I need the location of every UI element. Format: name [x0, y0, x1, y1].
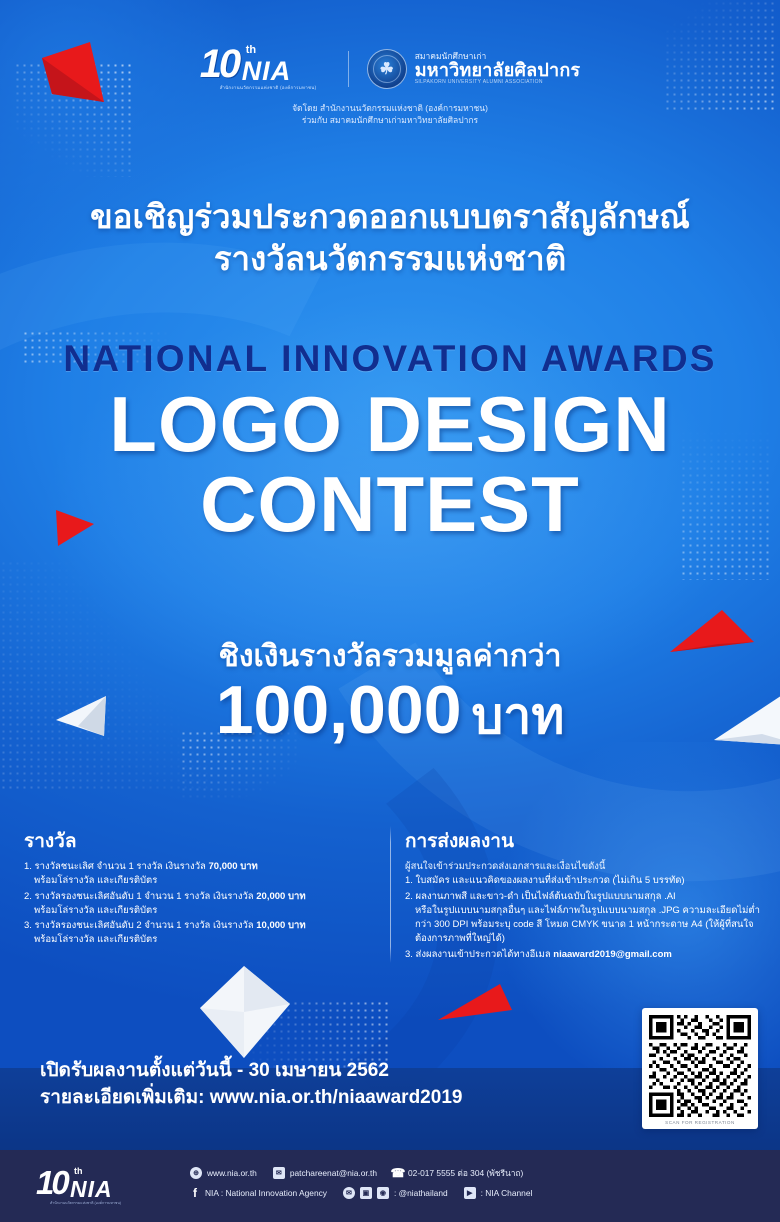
list-item: 2. ผลงานภาพสี และขาว-ดำ เป็นไฟล์ต้นฉบับใ… — [405, 890, 760, 947]
english-titles: NATIONAL INNOVATION AWARDS LOGO DESIGN C… — [0, 340, 780, 544]
facebook-icon: f — [190, 1187, 200, 1199]
qr-caption: SCAN FOR REGISTRATION — [649, 1117, 751, 1126]
list-item: 1. ใบสมัคร และแนวคิดของผลงานที่ส่งเข้าปร… — [405, 874, 760, 888]
column-divider — [390, 826, 391, 963]
youtube-icon: ▶ — [464, 1187, 476, 1199]
contact-youtube[interactable]: ▶ : NIA Channel — [464, 1187, 533, 1199]
submission-item-2-sub: หรือในรูปแบบนามสกุลอื่นๆ และไฟล์ภาพในรูป… — [405, 904, 760, 947]
contact-social-text: : @niathailand — [394, 1188, 448, 1198]
deadline-text: เปิดรับผลงานตั้งแต่วันนี้ - 30 เมษายน 25… — [40, 1058, 462, 1112]
nia-logo: 10 th NIA สำนักงานนวัตกรรมแห่งชาติ (องค์… — [200, 46, 330, 92]
deadline-line1: เปิดรับผลงานตั้งแต่วันนี้ - 30 เมษายน 25… — [40, 1058, 462, 1085]
organizer-lines: จัดโดย สำนักงานนวัตกรรมแห่งชาติ (องค์การ… — [0, 102, 780, 127]
thai-headline: ขอเชิญร่วมประกวดออกแบบตราสัญลักษณ์ รางวั… — [0, 196, 780, 280]
footer-logo-subtitle: สำนักงานนวัตกรรมแห่งชาติ (องค์การมหาชน) — [50, 1200, 121, 1206]
contact-phone-text: 02-017 5555 ต่อ 304 (พัชรีนาถ) — [408, 1166, 523, 1180]
footer-logo-word: NIA — [70, 1178, 113, 1201]
globe-icon: ⊕ — [190, 1167, 202, 1179]
contact-youtube-text: : NIA Channel — [481, 1188, 533, 1198]
poster-header: 10 th NIA สำนักงานนวัตกรรมแห่งชาติ (องค์… — [0, 0, 780, 127]
footer-contacts: ⊕ www.nia.or.th ✉ patchareenat@nia.or.th… — [172, 1166, 780, 1206]
prize-amount-number: 100,000 — [216, 672, 462, 748]
thai-headline-line1: ขอเชิญร่วมประกวดออกแบบตราสัญลักษณ์ — [0, 196, 780, 238]
footer-contact-row-1: ⊕ www.nia.or.th ✉ patchareenat@nia.or.th… — [190, 1166, 780, 1180]
submission-heading: การส่งผลงาน — [405, 826, 760, 856]
prize-item-2-main: 2. รางวัลรองชนะเลิศอันดับ 1 จำนวน 1 รางว… — [24, 891, 256, 902]
contact-social-group[interactable]: ✉ ▣ ◉ : @niathailand — [343, 1187, 448, 1199]
prize-item-3-amount: 10,000 บาท — [256, 920, 305, 931]
instagram-icon: ▣ — [360, 1187, 372, 1199]
seal-glyph: ☘ — [380, 59, 394, 79]
submission-column: การส่งผลงาน ผู้สนใจเข้าร่วมประกวดส่งเอกส… — [405, 826, 760, 963]
prizes-heading: รางวัล — [24, 826, 362, 856]
list-item: 3. รางวัลรองชนะเลิศอันดับ 2 จำนวน 1 รางว… — [24, 919, 362, 948]
prize-item-3-main: 3. รางวัลรองชนะเลิศอันดับ 2 จำนวน 1 รางว… — [24, 920, 256, 931]
footer-logo-number: 10 — [36, 1166, 67, 1199]
prize-currency: บาท — [472, 688, 565, 744]
nia-logo-th: th — [246, 44, 256, 56]
footer-contact-row-2: f NIA : National Innovation Agency ✉ ▣ ◉… — [190, 1187, 780, 1199]
submission-item-2-main: 2. ผลงานภาพสี และขาว-ดำ เป็นไฟล์ต้นฉบับใ… — [405, 891, 676, 902]
qr-code-block[interactable]: SCAN FOR REGISTRATION — [642, 1008, 758, 1129]
logo-divider — [348, 51, 349, 87]
qr-code-icon[interactable] — [649, 1015, 751, 1117]
contact-facebook-text: NIA : National Innovation Agency — [205, 1188, 327, 1198]
list-item: 3. ส่งผลงานเข้าประกวดได้ทางอีเมล niaawar… — [405, 948, 760, 962]
envelope-icon: ✉ — [273, 1167, 285, 1179]
contact-email-text: patchareenat@nia.or.th — [290, 1168, 377, 1178]
info-columns: รางวัล 1. รางวัลชนะเลิศ จำนวน 1 รางวัล เ… — [24, 826, 760, 963]
silpakorn-alumni-logo: ☘ สมาคมนักศึกษาเก่า มหาวิทยาลัยศิลปากร S… — [367, 49, 581, 89]
phone-icon: ☎ — [393, 1167, 403, 1179]
twitter-icon: ✉ — [343, 1187, 355, 1199]
prize-item-1-main: 1. รางวัลชนะเลิศ จำนวน 1 รางวัล เงินรางว… — [24, 861, 209, 872]
title-awards: NATIONAL INNOVATION AWARDS — [0, 340, 780, 377]
nia-logo-number: 10 — [200, 44, 239, 84]
nia-logo-subtitle: สำนักงานนวัตกรรมแห่งชาติ (องค์การมหาชน) — [220, 84, 317, 91]
white-origami-diamond — [186, 962, 306, 1072]
title-contest: CONTEST — [0, 465, 780, 545]
submission-note: ผู้สนใจเข้าร่วมประกวดส่งเอกสารและเงื่อนไ… — [405, 860, 760, 874]
prize-item-2-sub: พร้อมโล่รางวัล และเกียรติบัตร — [24, 904, 362, 918]
contact-phone[interactable]: ☎ 02-017 5555 ต่อ 304 (พัชรีนาถ) — [393, 1166, 523, 1180]
logo-row: 10 th NIA สำนักงานนวัตกรรมแห่งชาติ (องค์… — [0, 46, 780, 92]
title-logo: LOGO DESIGN — [0, 385, 780, 465]
prize-item-1-sub: พร้อมโล่รางวัล และเกียรติบัตร — [24, 874, 362, 888]
nia-logo-word: NIA — [242, 58, 292, 85]
thai-headline-line2: รางวัลนวัตกรรมแห่งชาติ — [0, 238, 780, 280]
deadline-line2: รายละเอียดเพิ่มเติม: www.nia.or.th/niaaw… — [40, 1085, 462, 1112]
prize-item-1-amount: 70,000 บาท — [209, 861, 258, 872]
silpakorn-logo-text: สมาคมนักศึกษาเก่า มหาวิทยาลัยศิลปากร SIL… — [415, 52, 581, 85]
submission-item-3-main: 3. ส่งผลงานเข้าประกวดได้ทางอีเมล — [405, 949, 553, 960]
contact-website[interactable]: ⊕ www.nia.or.th — [190, 1167, 257, 1179]
footer-nia-logo: 10 th NIA สำนักงานนวัตกรรมแห่งชาติ (องค์… — [32, 1164, 172, 1208]
line-icon: ◉ — [377, 1187, 389, 1199]
silpakorn-line3: SILPAKORN UNIVERSITY ALUMNI ASSOCIATION — [415, 80, 581, 85]
silpakorn-seal-icon: ☘ — [367, 49, 407, 89]
prizes-column: รางวัล 1. รางวัลชนะเลิศ จำนวน 1 รางวัล เ… — [24, 826, 376, 963]
contact-website-text: www.nia.or.th — [207, 1168, 257, 1178]
prizes-list: 1. รางวัลชนะเลิศ จำนวน 1 รางวัล เงินรางว… — [24, 860, 362, 948]
footer-logo-th: th — [74, 1166, 83, 1176]
contact-facebook[interactable]: f NIA : National Innovation Agency — [190, 1187, 327, 1199]
submission-item-1-main: 1. ใบสมัคร และแนวคิดของผลงานที่ส่งเข้าปร… — [405, 875, 685, 886]
organizer-line-1: จัดโดย สำนักงานนวัตกรรมแห่งชาติ (องค์การ… — [0, 102, 780, 114]
prize-item-3-sub: พร้อมโล่รางวัล และเกียรติบัตร — [24, 933, 362, 947]
prize-item-2-amount: 20,000 บาท — [256, 891, 305, 902]
silpakorn-line2: มหาวิทยาลัยศิลปากร — [415, 61, 581, 80]
organizer-line-2: ร่วมกับ สมาคมนักศึกษาเก่ามหาวิทยาลัยศิลป… — [0, 114, 780, 126]
contact-email[interactable]: ✉ patchareenat@nia.or.th — [273, 1167, 377, 1179]
prize-lead-text: ชิงเงินรางวัลรวมมูลค่ากว่า — [0, 640, 780, 673]
poster-canvas: 10 th NIA สำนักงานนวัตกรรมแห่งชาติ (องค์… — [0, 0, 780, 1222]
list-item: 1. รางวัลชนะเลิศ จำนวน 1 รางวัล เงินรางว… — [24, 860, 362, 889]
submission-email[interactable]: niaaward2019@gmail.com — [553, 949, 672, 960]
poster-footer: 10 th NIA สำนักงานนวัตกรรมแห่งชาติ (องค์… — [0, 1150, 780, 1222]
red-arrow-lower — [430, 976, 520, 1046]
prize-amount-block: ชิงเงินรางวัลรวมมูลค่ากว่า 100,000บาท — [0, 640, 780, 746]
prize-amount-row: 100,000บาท — [0, 675, 780, 746]
list-item: 2. รางวัลรองชนะเลิศอันดับ 1 จำนวน 1 รางว… — [24, 890, 362, 919]
submission-list: 1. ใบสมัคร และแนวคิดของผลงานที่ส่งเข้าปร… — [405, 874, 760, 962]
